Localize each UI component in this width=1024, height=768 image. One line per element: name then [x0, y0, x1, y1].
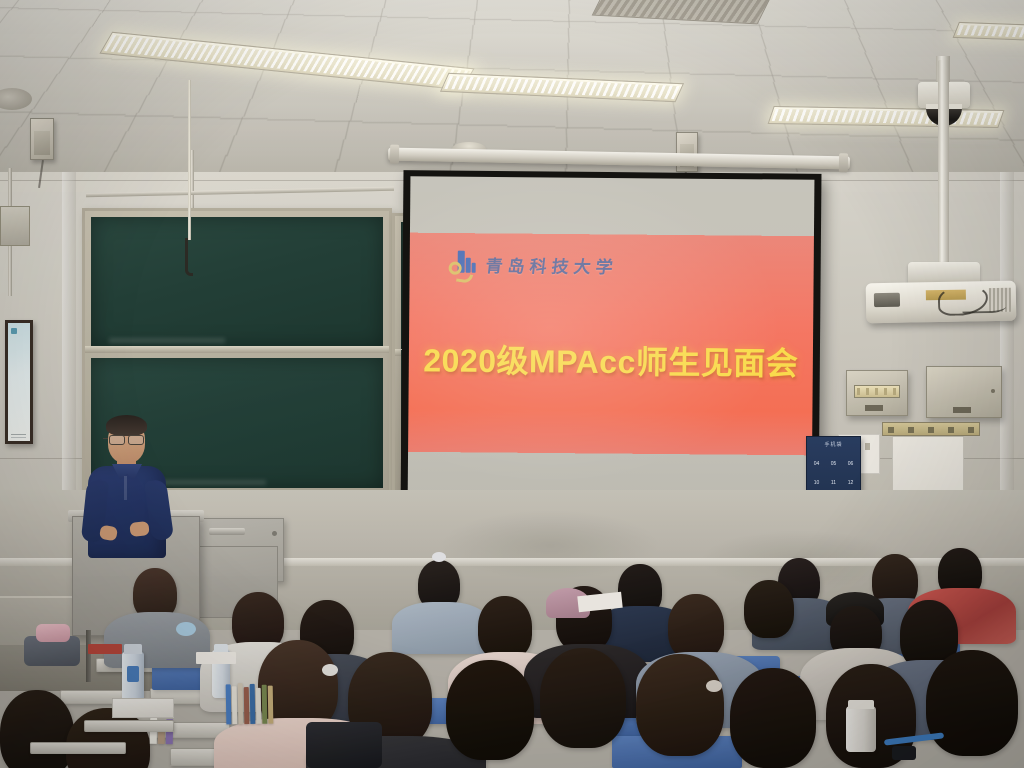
control-panel-right[interactable]: [926, 366, 1002, 418]
pocket-cell: 10: [809, 470, 824, 487]
book: [232, 686, 238, 724]
book: [226, 684, 232, 724]
wall-speaker-left: [30, 118, 54, 160]
pocket-chart-header: 手机袋: [809, 439, 858, 449]
pocket-chart-row: 04 05 06: [809, 451, 858, 468]
slide-title: 2020级MPAcc师生见面会: [409, 336, 813, 386]
university-logo: 青岛科技大学: [448, 250, 618, 281]
thermos-cup: [846, 706, 876, 752]
book-stack: [226, 682, 274, 725]
book: [244, 687, 250, 724]
book: [256, 688, 262, 724]
presenter-hair: [106, 415, 147, 436]
pocket-chart-row: 10 11 12: [809, 470, 858, 487]
audience-head: [446, 660, 534, 760]
cabinet-knob[interactable]: [272, 531, 277, 536]
screen-pull-rod[interactable]: [188, 80, 191, 240]
phone[interactable]: [892, 746, 916, 760]
glasses-icon: [108, 435, 145, 443]
classroom-photo: 青岛科技大学 2020级MPAcc师生见面会 手机袋 04 05 06: [0, 0, 1024, 768]
paper-sheet: [196, 652, 236, 664]
audience-head: [730, 668, 816, 768]
pocket-cell: 06: [843, 451, 858, 468]
red-book: [88, 644, 122, 654]
hair-clip: [706, 680, 722, 692]
projector-lens: [874, 293, 900, 307]
audience-shoulders: [104, 612, 210, 668]
audience-area: [0, 540, 1024, 768]
wall-junction-box: [0, 206, 30, 246]
projector-icon: [866, 281, 1017, 324]
student-desk: [84, 720, 174, 732]
hair-clip: [432, 552, 446, 562]
wall-sign-strip: [882, 422, 980, 436]
presenter-placket: [124, 476, 127, 500]
hair-tie: [176, 622, 196, 636]
audience-shoulders: [392, 602, 490, 654]
bottle-label: [127, 666, 139, 682]
pocket-cell: 04: [809, 451, 824, 468]
book: [250, 684, 256, 724]
chalkboard-ledge: [85, 346, 389, 353]
audience-head: [636, 654, 724, 756]
audience-head: [668, 594, 724, 660]
university-logo-mark-icon: [448, 250, 478, 280]
cabinet-handle[interactable]: [209, 528, 245, 535]
projector-cable: [962, 297, 1006, 314]
projected-slide: 青岛科技大学 2020级MPAcc师生见面会: [408, 176, 815, 512]
backpack: [306, 722, 382, 768]
bottle-cap: [124, 644, 142, 654]
bottle-cap: [214, 644, 228, 652]
book: [268, 686, 274, 724]
hair-clip: [322, 664, 338, 676]
cup-lid: [848, 700, 874, 709]
audience-head: [540, 648, 626, 748]
notebook: [112, 698, 174, 718]
projector-mount-pole: [938, 60, 949, 292]
audience-head: [478, 596, 532, 660]
book: [262, 685, 268, 724]
control-panel-left[interactable]: [846, 370, 908, 416]
audience-head: [0, 690, 74, 768]
pocket-cell: 05: [826, 451, 841, 468]
screen-pull-hook[interactable]: [185, 238, 193, 276]
pocket-cell: 11: [826, 470, 841, 487]
university-name-text: 青岛科技大学: [484, 252, 619, 281]
projection-screen: 青岛科技大学 2020级MPAcc师生见面会: [401, 170, 822, 518]
presenter: [86, 418, 166, 558]
pocket-cell: 12: [843, 470, 858, 487]
chalkboard-pane-upper: [91, 217, 383, 347]
framed-wall-poster: [5, 320, 33, 444]
pink-item: [36, 624, 70, 642]
student-desk: [30, 742, 126, 754]
audience-head: [744, 580, 794, 638]
book: [238, 683, 244, 724]
audience-head: [926, 650, 1018, 756]
